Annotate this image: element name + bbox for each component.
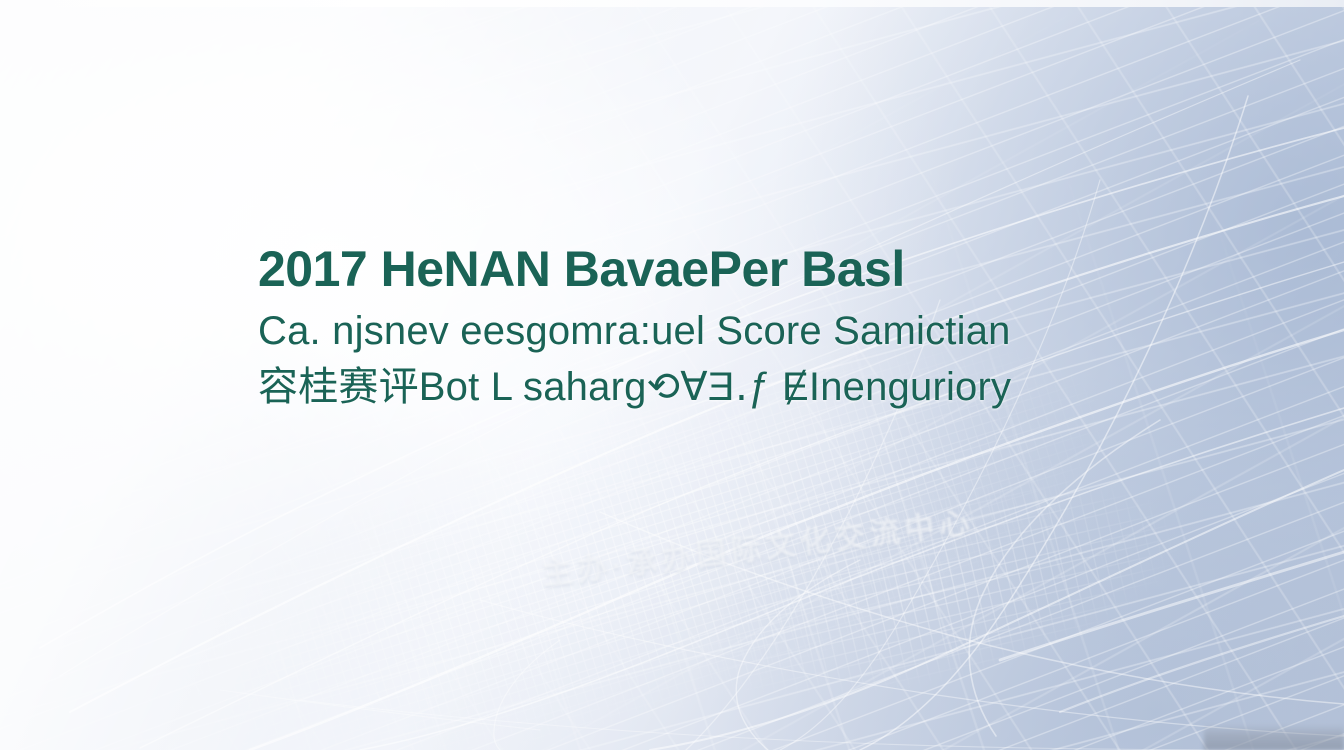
title-block: 2017 HeNAN BavaePer Basl Ca. njsnev eesg… (258, 244, 1138, 408)
title-line-secondary: Ca. njsnev eesgomra:uel Score Samictian (258, 310, 1138, 352)
top-edge-strip (0, 0, 1344, 7)
bottom-right-shadow (1204, 724, 1344, 750)
title-line-tertiary: 容桂赛评Bot L saharg⟲ⱯƎ․ƒ ɆInenguriory (258, 366, 1138, 408)
title-slide: 主办·承办国际文化交流中心 2017 HeNAN BavaePer Basl C… (0, 0, 1344, 750)
title-line-primary: 2017 HeNAN BavaePer Basl (258, 244, 1138, 294)
